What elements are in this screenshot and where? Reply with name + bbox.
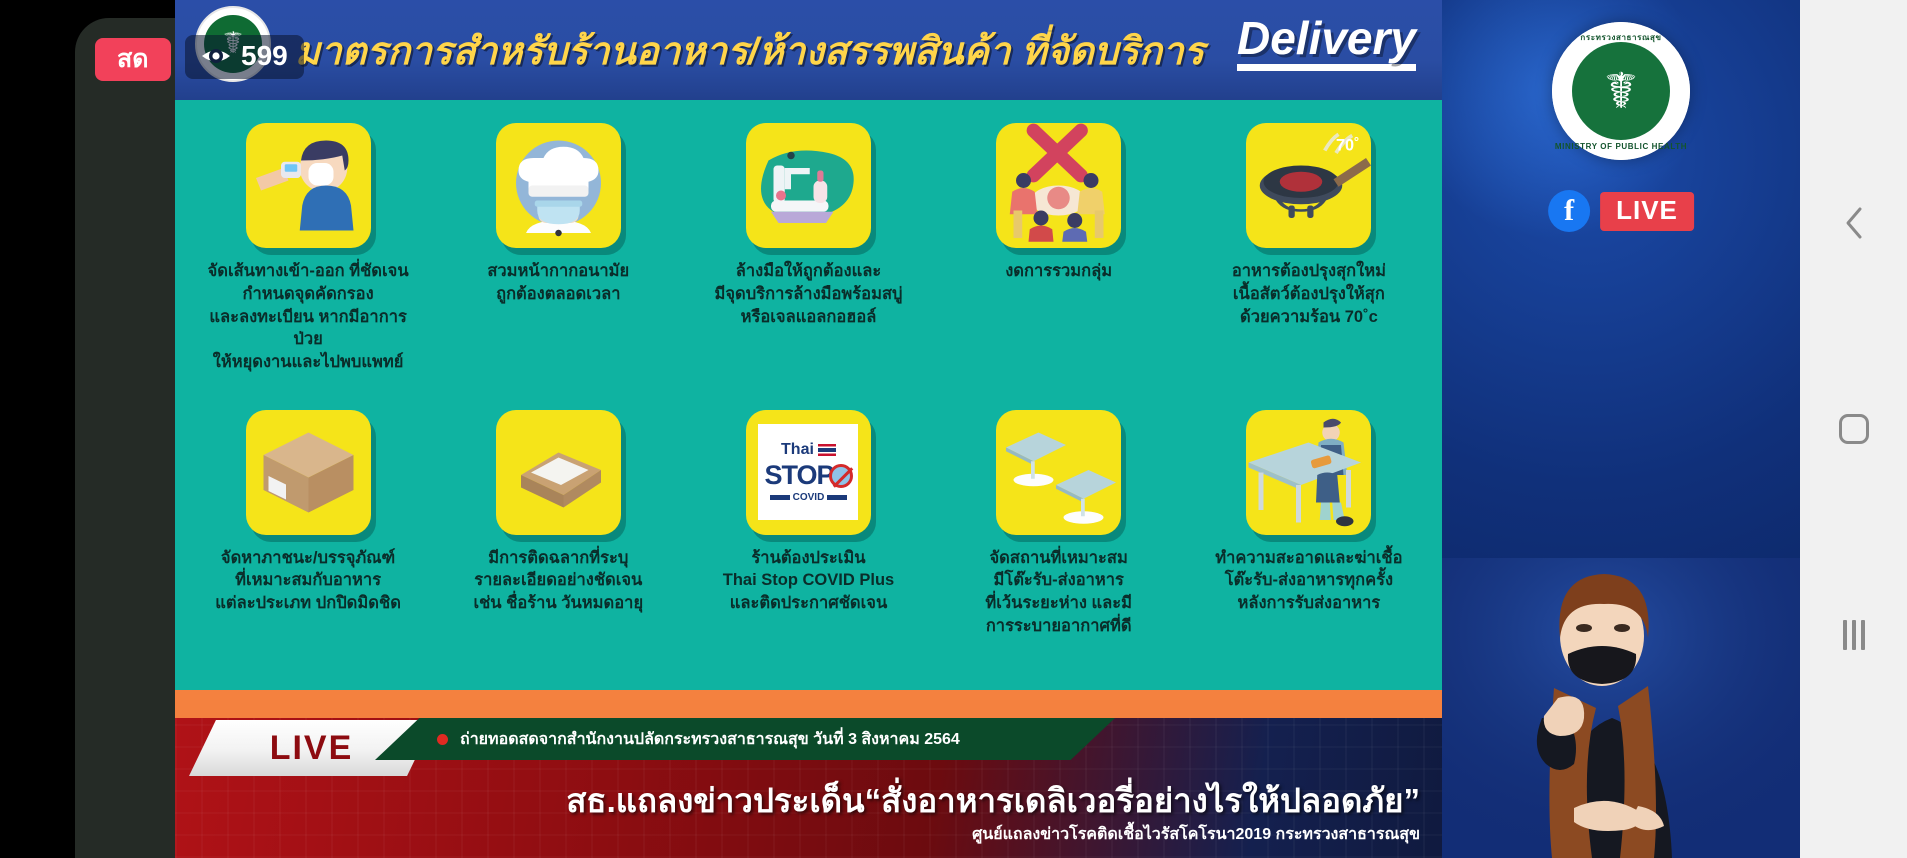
measures-grid: จัดเส้นทางเข้า-ออก ที่ชัดเจน กำหนดจุดคัด… <box>175 105 1442 690</box>
live-chip-label: LIVE <box>1600 192 1694 231</box>
spaced-tables-icon <box>996 410 1121 535</box>
facebook-icon: f <box>1548 190 1590 232</box>
measure-caption: จัดหาภาชนะ/บรรจุภัณฑ์ ที่เหมาะสมกับอาหาร… <box>215 547 401 615</box>
home-square-icon[interactable] <box>1831 406 1877 452</box>
chef-mask-icon <box>496 123 621 248</box>
measure-caption: งดการรวมกลุ่ม <box>1005 260 1112 283</box>
viewer-count-pill: 599 <box>185 35 304 79</box>
live-status-badge[interactable]: สด <box>95 38 171 81</box>
record-dot-icon <box>437 734 448 745</box>
labeled-food-box-icon <box>496 410 621 535</box>
slide-title-thai: มาตรการสำหรับร้านอาหาร/ห้างสรรพสินค้า ที… <box>295 20 1204 81</box>
slide-title: มาตรการสำหรับร้านอาหาร/ห้างสรรพสินค้า ที… <box>295 8 1305 92</box>
table-cleaning-icon <box>1246 410 1371 535</box>
facebook-live-badge: f LIVE <box>1548 190 1694 232</box>
thermometer-screening-icon <box>246 123 371 248</box>
moph-seal-bottom-text: MINISTRY OF PUBLIC HEALTH <box>1552 142 1690 151</box>
eye-icon <box>201 41 231 71</box>
measure-caption: ร้านต้องประเมิน Thai Stop COVID Plus และ… <box>723 547 894 615</box>
slide-title-delivery: Delivery <box>1237 14 1416 71</box>
measure-card: 70˚ อาหารต้องปรุงสุกใหม่ เนื้อสัตว์ต้องป… <box>1184 111 1434 398</box>
back-chevron-icon[interactable] <box>1831 200 1877 246</box>
no-virus-icon <box>829 464 853 488</box>
recents-icon[interactable] <box>1831 612 1877 658</box>
measure-caption: จัดเส้นทางเข้า-ออก ที่ชัดเจน กำหนดจุดคัด… <box>196 260 421 374</box>
broadcast-source-strip: ถ่ายทอดสดจากสำนักงานปลัดกระทรวงสาธารณสุข… <box>375 718 1115 760</box>
measure-card: สวมหน้ากากอนามัย ถูกต้องตลอดเวลา <box>433 111 683 398</box>
measure-caption: จัดสถานที่เหมาะสม มีโต๊ะรับ-ส่งอาหาร ที่… <box>985 547 1132 638</box>
cooking-pan-70c-icon: 70˚ <box>1246 123 1371 248</box>
presentation-slide: ☤ มาตรการสำหรับร้านอาหาร/ห้างสรรพสินค้า … <box>175 0 1442 858</box>
measure-card: มีการติดฉลากที่ระบุ รายละเอียดอย่างชัดเจ… <box>433 398 683 685</box>
measure-caption: ล้างมือให้ถูกต้องและ มีจุดบริการล้างมือพ… <box>714 260 902 328</box>
measure-card: ทำความสะอาดและฆ่าเชื้อ โต๊ะรับ-ส่งอาหารท… <box>1184 398 1434 685</box>
measure-card: จัดสถานที่เหมาะสม มีโต๊ะรับ-ส่งอาหาร ที่… <box>934 398 1184 685</box>
measure-card: จัดเส้นทางเข้า-ออก ที่ชัดเจน กำหนดจุดคัด… <box>183 111 433 398</box>
broadcast-source-text: ถ่ายทอดสดจากสำนักงานปลัดกระทรวงสาธารณสุข… <box>460 727 960 752</box>
thai-stop-covid-icon: Thai STOP COVID <box>746 410 871 535</box>
interpreter-stage: กระทรวงสาธารณสุข ☤ MINISTRY OF PUBLIC HE… <box>1442 0 1800 858</box>
measure-caption: อาหารต้องปรุงสุกใหม่ เนื้อสัตว์ต้องปรุงใ… <box>1232 260 1386 328</box>
live-flag-label: LIVE <box>270 729 354 768</box>
svg-text:70˚: 70˚ <box>1336 137 1360 155</box>
measure-card: จัดหาภาชนะ/บรรจุภัณฑ์ ที่เหมาะสมกับอาหาร… <box>183 398 433 685</box>
tsc-thai-text: Thai <box>781 441 814 459</box>
broadcast-subline: ศูนย์แถลงข่าวโรคติดเชื้อไวรัสโคโรนา2019 … <box>972 822 1420 847</box>
thai-flag-icon <box>818 444 836 456</box>
broadcast-lower-third: LIVE ถ่ายทอดสดจากสำนักงานปลัดกระทรวงสาธา… <box>175 718 1442 858</box>
moph-seal-top-text: กระทรวงสาธารณสุข <box>1552 31 1690 44</box>
android-navigation-bar <box>1800 0 1907 858</box>
sign-language-interpreter <box>1442 558 1800 858</box>
package-box-icon <box>246 410 371 535</box>
measure-card: งดการรวมกลุ่ม <box>934 111 1184 398</box>
measure-card: Thai STOP COVID <box>683 398 933 685</box>
measure-card: ล้างมือให้ถูกต้องและ มีจุดบริการล้างมือพ… <box>683 111 933 398</box>
moph-seal-icon: กระทรวงสาธารณสุข ☤ MINISTRY OF PUBLIC HE… <box>1552 22 1690 160</box>
broadcast-headline: สธ.แถลงข่าวประเด็น“สั่งอาหารเดลิเวอรี่อย… <box>175 774 1420 827</box>
slide-header: ☤ มาตรการสำหรับร้านอาหาร/ห้างสรรพสินค้า … <box>175 0 1442 100</box>
viewer-count-value: 599 <box>241 40 288 72</box>
orange-divider <box>175 690 1442 718</box>
measure-caption: ทำความสะอาดและฆ่าเชื้อ โต๊ะรับ-ส่งอาหารท… <box>1215 547 1402 615</box>
no-gathering-icon <box>996 123 1121 248</box>
screen-root: ☤ มาตรการสำหรับร้านอาหาร/ห้างสรรพสินค้า … <box>0 0 1907 858</box>
tsc-covid-text: COVID <box>793 492 825 503</box>
measure-caption: สวมหน้ากากอนามัย ถูกต้องตลอดเวลา <box>487 260 629 306</box>
handwash-sink-icon <box>746 123 871 248</box>
tsc-stop-text: STOP <box>764 460 833 491</box>
measure-caption: มีการติดฉลากที่ระบุ รายละเอียดอย่างชัดเจ… <box>473 547 643 615</box>
